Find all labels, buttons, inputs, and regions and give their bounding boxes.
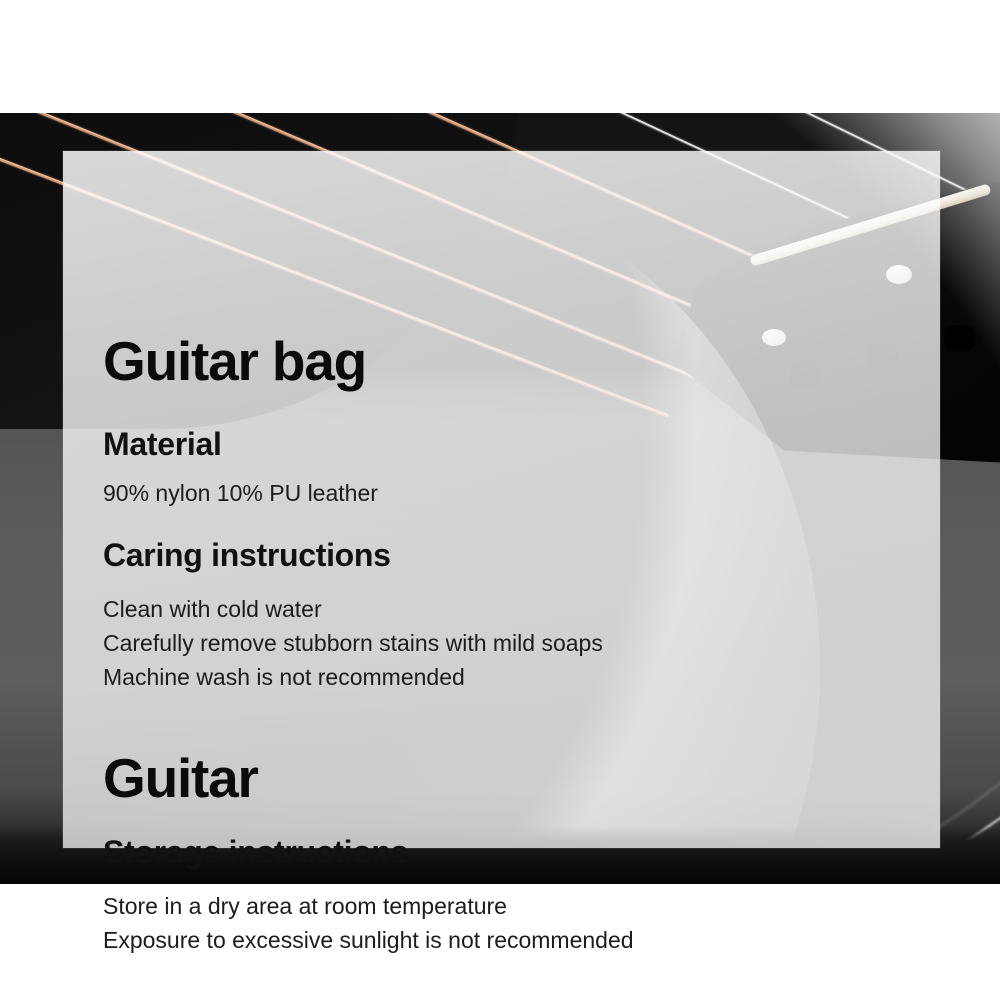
caring-instructions-list: Clean with cold water Carefully remove s… — [103, 592, 603, 694]
section-heading-guitar: Guitar — [103, 751, 258, 806]
storage-instructions-list: Store in a dry area at room temperature … — [103, 889, 634, 957]
section-heading-guitar-bag: Guitar bag — [103, 334, 366, 389]
caring-line-1: Clean with cold water — [103, 592, 603, 626]
caring-line-2: Carefully remove stubborn stains with mi… — [103, 626, 603, 660]
material-value-list: 90% nylon 10% PU leather — [103, 476, 378, 510]
caring-line-3: Machine wash is not recommended — [103, 660, 603, 694]
storage-line-2: Exposure to excessive sunlight is not re… — [103, 923, 634, 957]
subheading-storage-instructions: Storage instructions — [103, 836, 408, 868]
subheading-caring-instructions: Caring instructions — [103, 539, 391, 571]
subheading-material: Material — [103, 428, 222, 460]
material-line: 90% nylon 10% PU leather — [103, 476, 378, 510]
product-info-graphic: Guitar bag Material 90% nylon 10% PU lea… — [0, 0, 1000, 1000]
storage-line-1: Store in a dry area at room temperature — [103, 889, 634, 923]
info-panel: Guitar bag Material 90% nylon 10% PU lea… — [63, 151, 940, 848]
